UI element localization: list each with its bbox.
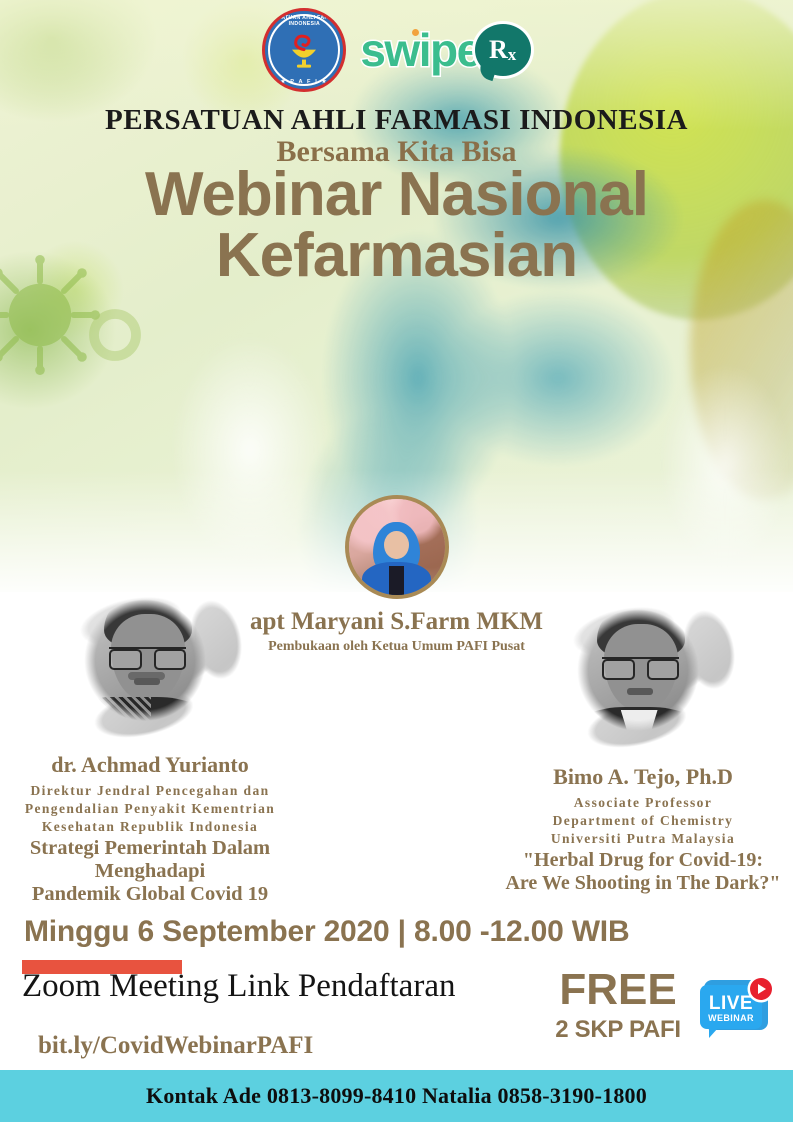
right-speaker-block: Bimo A. Tejo, Ph.D Associate ProfessorDe…	[493, 585, 793, 894]
virus-icon-small	[80, 300, 150, 370]
rx-text: Rx	[489, 37, 516, 63]
rx-speech-bubble-icon: Rx	[475, 24, 531, 76]
registration-link[interactable]: bit.ly/CovidWebinarPAFI	[38, 1032, 313, 1060]
right-speaker-name: Bimo A. Tejo, Ph.D	[493, 764, 793, 790]
left-speaker-block: dr. Achmad Yurianto Direktur Jendral Pen…	[0, 575, 300, 906]
left-speaker-name: dr. Achmad Yurianto	[0, 752, 300, 778]
right-speaker-role: Associate ProfessorDepartment of Chemist…	[493, 794, 793, 847]
right-speaker-topic: "Herbal Drug for Covid-19:Are We Shootin…	[493, 849, 793, 894]
portrait-photo	[554, 591, 722, 756]
pafi-logo-top-text: PERSATUAN AHLI FARMASI INDONESIA	[265, 15, 343, 27]
portrait-mouth	[134, 678, 159, 685]
registration-label: Zoom Meeting Link Pendaftaran	[22, 968, 455, 1005]
avatar-face	[384, 531, 409, 560]
portrait-batik-shirt	[81, 697, 152, 747]
pafi-logo-bottom-text: ★ P A F I ★	[265, 79, 343, 85]
portrait-glasses	[109, 647, 186, 670]
title-line-2: Kefarmasian	[0, 226, 793, 287]
pafi-logo: PERSATUAN AHLI FARMASI INDONESIA ★ P A F…	[262, 8, 346, 92]
live-webinar-badge-icon: LIVE WEBINAR	[698, 978, 772, 1040]
swiperx-wordmark: swipe	[360, 27, 480, 73]
swiperx-word-text: swipe	[360, 24, 480, 76]
organization-name: PERSATUAN AHLI FARMASI INDONESIA	[0, 104, 793, 137]
avatar-maryani	[345, 495, 449, 599]
price-label: FREE	[548, 968, 688, 1012]
portrait-bimo-tejo	[536, 585, 751, 760]
event-datetime: Minggu 6 September 2020 | 8.00 -12.00 WI…	[24, 915, 629, 949]
avatar-inner-shirt	[389, 566, 404, 597]
price-block: FREE 2 SKP PAFI	[548, 968, 688, 1044]
portrait-achmad-yurianto	[43, 575, 258, 750]
webinar-poster: PERSATUAN AHLI FARMASI INDONESIA ★ P A F…	[0, 0, 793, 1122]
credits-label: 2 SKP PAFI	[548, 1016, 688, 1044]
page-title: Webinar Nasional Kefarmasian	[0, 165, 793, 287]
contact-footer: Kontak Ade 0813-8099-8410 Natalia 0858-3…	[0, 1070, 793, 1122]
logo-row: PERSATUAN AHLI FARMASI INDONESIA ★ P A F…	[0, 4, 793, 96]
bowl-of-hygieia-icon	[284, 32, 324, 72]
swiperx-logo: swipe Rx	[360, 24, 530, 76]
title-line-1: Webinar Nasional	[145, 160, 648, 229]
left-speaker-role: Direktur Jendral Pencegahan danPengendal…	[0, 782, 300, 835]
portrait-glasses	[602, 657, 679, 680]
left-speaker-topic: Strategi Pemerintah Dalam MenghadapiPand…	[0, 837, 300, 906]
live-badge-webinar-text: WEBINAR	[700, 1013, 762, 1023]
contact-text: Kontak Ade 0813-8099-8410 Natalia 0858-3…	[146, 1083, 647, 1109]
play-button-icon	[750, 978, 772, 1000]
portrait-photo	[61, 581, 229, 746]
portrait-mouth	[627, 688, 652, 695]
